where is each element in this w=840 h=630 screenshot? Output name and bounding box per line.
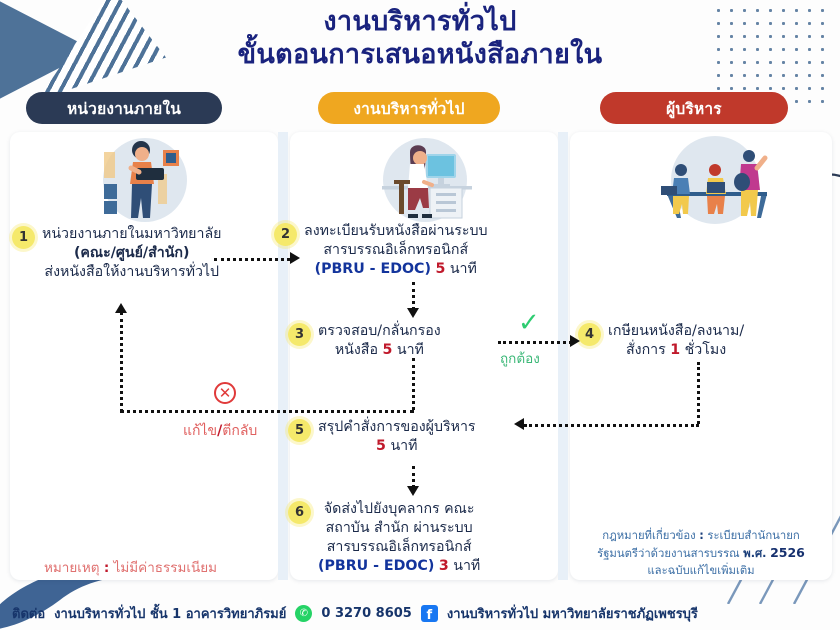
connector-3-to-4-line [498, 341, 572, 344]
step-2-system-code: (PBRU - EDOC) [315, 261, 431, 277]
reject-label-b: ตีกลับ [222, 423, 257, 439]
step-4-duration-number: 1 [670, 342, 680, 358]
step-3: 3 ตรวจสอบ/กลั่นกรอง หนังสือ 5 นาที [288, 322, 503, 360]
step-3-line-1: ตรวจสอบ/กลั่นกรอง [318, 322, 441, 341]
reject-label-a: แก้ไข [183, 423, 217, 439]
reject-label: แก้ไข/ตีกลับ [183, 420, 257, 442]
page-title: งานบริหารทั่วไป ขั้นตอนการเสนอหนังสือภาย… [170, 6, 670, 72]
connector-1-to-2-line [214, 258, 290, 261]
step-6-line-1: จัดส่งไปยังบุคลากร คณะ [318, 500, 480, 519]
step-6-line-2: สถาบัน สำนัก ผ่านระบบ [318, 519, 480, 538]
note-right-era: พ.ศ. [743, 547, 766, 560]
step-6-system-code: (PBRU - EDOC) [318, 558, 434, 574]
note-right-line-3: และฉบับแก้ไขเพิ่มเติม [572, 563, 830, 579]
connector-reject-arrow [115, 303, 127, 313]
step-4: 4 เกษียนหนังสือ/ลงนาม/ สั่งการ 1 ชั่วโมง [578, 322, 824, 360]
step-6-duration-unit: นาที [453, 558, 480, 574]
woman-with-laptop-illustration [86, 134, 204, 226]
step-4-line-1: เกษียนหนังสือ/ลงนาม/ [608, 322, 744, 341]
footer-contact-bar: ติดต่อ งานบริหารทั่วไป ชั้น 1 อาคารวิทยา… [0, 596, 840, 630]
step-6-line-3: สารบรรณอิเล็กทรอนิกส์ [318, 538, 480, 557]
connector-4-to-5-vline [697, 362, 700, 424]
approve-label: ถูกต้อง [500, 347, 540, 369]
step-4-number: 4 [578, 323, 601, 346]
step-3-line-2: หนังสือ 5 นาที [318, 341, 441, 360]
connector-1-to-2-arrow [290, 252, 300, 264]
connector-4-to-5-hline [524, 424, 699, 427]
step-6-number: 6 [288, 501, 311, 524]
woman-at-desk-computer-illustration [366, 134, 484, 226]
step-1: 1 หน่วยงานภายในมหาวิทยาลัย (คณะ/ศูนย์/สำ… [12, 225, 272, 282]
connector-2-to-3-arrow [407, 308, 419, 318]
step-3-duration-number: 5 [383, 342, 393, 358]
step-1-line-2: (คณะ/ศูนย์/สำนัก) [42, 244, 221, 263]
connector-reject-vline [412, 358, 415, 410]
step-3-duration-unit: นาที [397, 342, 424, 358]
facebook-icon[interactable]: f [421, 605, 438, 622]
step-6-text: จัดส่งไปยังบุคลากร คณะ สถาบัน สำนัก ผ่าน… [318, 500, 480, 576]
step-5-line-2: 5 นาที [318, 437, 476, 456]
column-divider-b [558, 132, 568, 580]
step-2-number: 2 [274, 223, 297, 246]
column-header-general-admin: งานบริหารทั่วไป [318, 92, 500, 124]
step-2-text: ลงทะเบียนรับหนังสือผ่านระบบ สารบรรณอิเล็… [304, 222, 487, 279]
connector-reject-upline [120, 312, 123, 412]
green-check-icon: ✓ [518, 310, 540, 336]
note-left-label: หมายเหตุ [44, 560, 100, 576]
step-5-line-1: สรุปคำสั่งการของผู้บริหาร [318, 418, 476, 437]
step-2-line-1: ลงทะเบียนรับหนังสือผ่านระบบ [304, 222, 487, 241]
step-5-duration-number: 5 [376, 438, 386, 454]
step-3-text: ตรวจสอบ/กลั่นกรอง หนังสือ 5 นาที [318, 322, 441, 360]
connector-reject-hline [120, 410, 414, 413]
note-left: หมายเหตุ : ไม่มีค่าธรรมเนียม [44, 556, 217, 578]
note-right-year: 2526 [770, 545, 805, 560]
step-4-action-word: สั่งการ [626, 342, 666, 358]
step-3-number: 3 [288, 323, 311, 346]
footer-contact-label: ติดต่อ [12, 603, 45, 624]
note-right-colon: : [699, 529, 704, 542]
step-2: 2 ลงทะเบียนรับหนังสือผ่านระบบ สารบรรณอิเ… [274, 222, 550, 279]
step-5-number: 5 [288, 419, 311, 442]
column-divider-a [278, 132, 288, 580]
step-5-duration-unit: นาที [390, 438, 417, 454]
footer-phone: 0 3270 8605 [321, 606, 411, 621]
connector-3-to-4-arrow [570, 335, 580, 347]
step-2-line-3: (PBRU - EDOC) 5 นาที [304, 260, 487, 279]
title-line-1: งานบริหารทั่วไป [170, 6, 670, 39]
footer-office: งานบริหารทั่วไป ชั้น 1 อาคารวิทยาภิรมย์ [54, 603, 286, 624]
step-2-duration-number: 5 [435, 261, 445, 277]
step-6: 6 จัดส่งไปยังบุคลากร คณะ สถาบัน สำนัก ผ่… [288, 500, 540, 576]
column-header-internal-unit: หน่วยงานภายใน [26, 92, 222, 124]
column-header-executive: ผู้บริหาร [600, 92, 788, 124]
footer-facebook: งานบริหารทั่วไป มหาวิทยาลัยราชภัฏเพชรบุร… [447, 603, 698, 624]
note-right-line-2: รัฐมนตรีว่าด้วยงานสารบรรณ พ.ศ. 2526 [572, 544, 830, 562]
step-5: 5 สรุปคำสั่งการของผู้บริหาร 5 นาที [288, 418, 518, 456]
connector-5-to-6-line [412, 466, 415, 488]
executives-meeting-illustration [645, 134, 785, 226]
note-right-line-1: กฎหมายที่เกี่ยวข้อง : ระเบียบสำนักนายก [572, 528, 830, 544]
connector-5-to-6-arrow [407, 486, 419, 496]
phone-icon: ✆ [295, 605, 312, 622]
step-5-text: สรุปคำสั่งการของผู้บริหาร 5 นาที [318, 418, 476, 456]
connector-2-to-3-line [412, 282, 415, 310]
step-4-text: เกษียนหนังสือ/ลงนาม/ สั่งการ 1 ชั่วโมง [608, 322, 744, 360]
infographic-canvas: งานบริหารทั่วไป ขั้นตอนการเสนอหนังสือภาย… [0, 0, 840, 630]
connector-4-to-5-arrow [514, 418, 524, 430]
note-left-colon: : [104, 560, 109, 576]
step-1-line-1: หน่วยงานภายในมหาวิทยาลัย [42, 225, 221, 244]
step-1-line-3: ส่งหนังสือให้งานบริหารทั่วไป [42, 263, 221, 282]
step-1-text: หน่วยงานภายในมหาวิทยาลัย (คณะ/ศูนย์/สำนั… [42, 225, 221, 282]
triangle-decoration-striped [38, 0, 166, 100]
note-right-value: ระเบียบสำนักนายก [707, 529, 799, 542]
step-4-line-2: สั่งการ 1 ชั่วโมง [608, 341, 744, 360]
step-3-doc-word: หนังสือ [335, 342, 378, 358]
note-left-value: ไม่มีค่าธรรมเนียม [114, 560, 218, 576]
red-x-circle-icon: ✕ [214, 382, 236, 404]
step-6-duration-number: 3 [439, 558, 449, 574]
step-2-duration-unit: นาที [450, 261, 477, 277]
title-line-2: ขั้นตอนการเสนอหนังสือภายใน [170, 39, 670, 72]
note-right-label: กฎหมายที่เกี่ยวข้อง [602, 529, 695, 542]
note-right-regulation: รัฐมนตรีว่าด้วยงานสารบรรณ [597, 547, 740, 560]
step-2-line-2: สารบรรณอิเล็กทรอนิกส์ [304, 241, 487, 260]
step-6-line-4: (PBRU - EDOC) 3 นาที [318, 557, 480, 576]
step-4-duration-unit: ชั่วโมง [685, 342, 727, 358]
note-right-legal-reference: กฎหมายที่เกี่ยวข้อง : ระเบียบสำนักนายก ร… [572, 528, 830, 579]
step-1-number: 1 [12, 226, 35, 249]
